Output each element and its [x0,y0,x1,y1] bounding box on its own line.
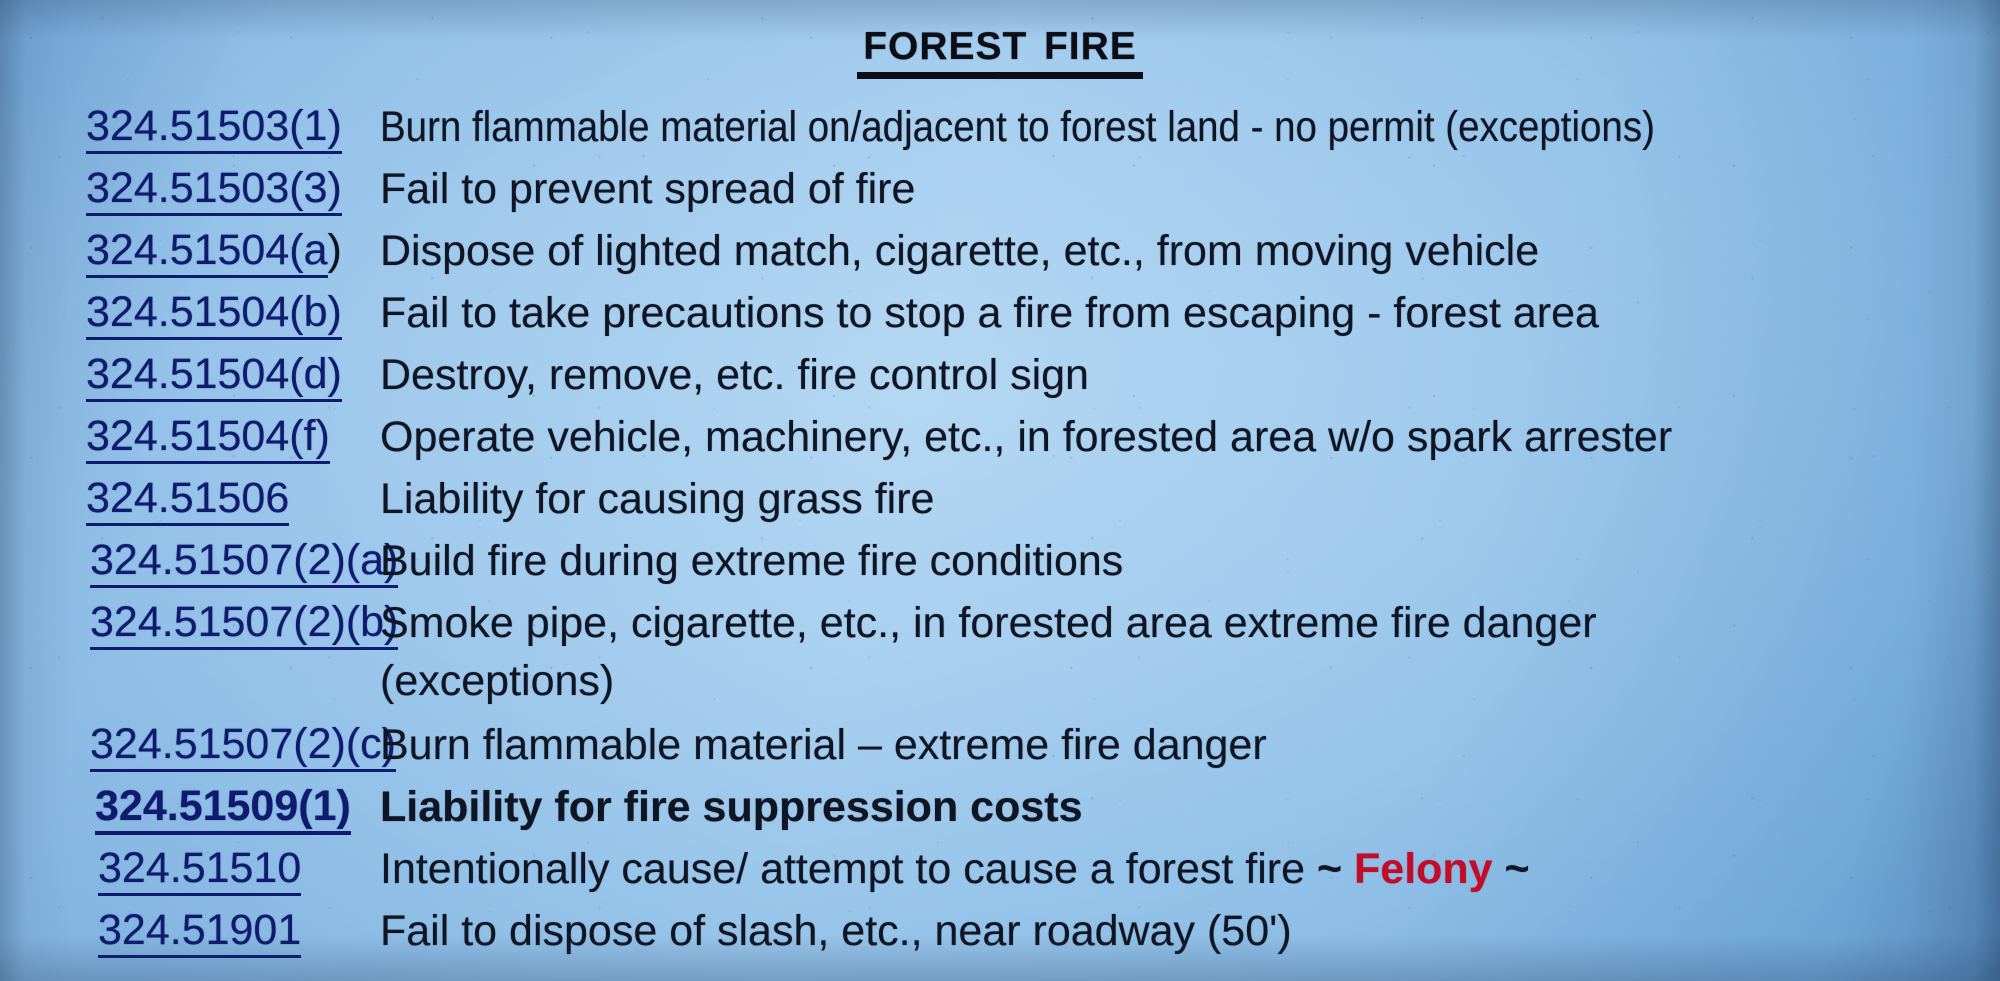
page-title: Forest Fire [857,12,1143,79]
statute-description: Build fire during extreme fire condition… [380,532,2000,590]
statute-number: 324.51504(f) [0,408,380,464]
statute-description: Liability for causing grass fire [380,470,2000,528]
table-row: 324.51503(3) Fail to prevent spread of f… [0,160,2000,222]
statute-number-text: 324.51503(3) [86,164,342,216]
table-row: 324.51507(2)(b) Smoke pipe, cigarette, e… [0,594,2000,716]
statute-number: 324.51901 [0,902,380,958]
statute-number-text: 324.51509(1) [95,782,351,835]
forest-fire-sign: Forest Fire 324.51503(1) Burn flammable … [0,0,2000,981]
table-row: 324.51504(f) Operate vehicle, machinery,… [0,408,2000,470]
statute-number: 324.51503(3) [0,160,380,216]
statute-number: 324.51507(2)(a) [0,532,380,588]
statute-description: Smoke pipe, cigarette, etc., in forested… [380,594,2000,710]
statute-description: Burn flammable material – extreme fire d… [380,716,2000,774]
statute-number-text: 324.51507(2)(a) [90,536,398,588]
statute-number: 324.51506 [0,470,380,526]
statute-description-text: Intentionally cause/ attempt to cause a … [380,845,1317,893]
felony-badge: Felony [1354,845,1493,893]
table-row: 324.51507(2)(c) Burn flammable material … [0,716,2000,778]
statute-description: Fail to dispose of slash, etc., near roa… [380,902,2000,960]
statute-description: Dispose of lighted match, cigarette, etc… [380,222,2000,280]
statute-number: 324.51510 [0,840,380,896]
statute-number-text: 324.51504(d) [86,350,342,402]
statute-number-text: 324.51504(f) [86,412,330,464]
statute-description: Liability for fire suppression costs [380,778,2000,836]
table-row: 324.51506 Liability for causing grass fi… [0,470,2000,532]
statute-description: Operate vehicle, machinery, etc., in for… [380,408,2000,466]
statute-number-text: 324.51507(2)(c) [90,720,396,772]
statute-number-text: 324.51901 [98,906,301,958]
page-title-container: Forest Fire [0,12,2000,79]
statute-description: Destroy, remove, etc. fire control sign [380,346,2000,404]
statute-number: 324.51509(1) [0,778,380,834]
statute-number-text: 324.51507(2)(b) [90,598,398,650]
table-row: 324.51901 Fail to dispose of slash, etc.… [0,902,2000,964]
statute-description: Fail to take precautions to stop a fire … [380,284,2000,342]
table-row: 324.51507(2)(a) Build fire during extrem… [0,532,2000,594]
table-row: 324.51504(a) Dispose of lighted match, c… [0,222,2000,284]
statute-number-text: 324.51504(b) [86,288,342,340]
statute-number: 324.51507(2)(c) [0,716,380,772]
statute-number: 324.51507(2)(b) [0,594,380,650]
statute-number: 324.51504(d) [0,346,380,402]
table-row: 324.51504(b) Fail to take precautions to… [0,284,2000,346]
statute-number-text: 324.51510 [98,844,301,896]
statute-description: Burn flammable material on/adjacent to f… [380,98,1982,156]
table-row: 324.51509(1) Liability for fire suppress… [0,778,2000,840]
statute-number-tail: ) [328,226,342,274]
table-row: 324.51503(1) Burn flammable material on/… [0,98,2000,160]
statute-number-text: 324.51506 [86,474,289,526]
statute-number: 324.51504(a) [0,222,380,278]
table-row: 324.51504(d) Destroy, remove, etc. fire … [0,346,2000,408]
table-row: 324.51510 Intentionally cause/ attempt t… [0,840,2000,902]
statute-number: 324.51503(1) [0,98,380,154]
statute-number-text: 324.51504(a [86,226,328,278]
statute-number: 324.51504(b) [0,284,380,340]
statute-description: Fail to prevent spread of fire [380,160,2000,218]
statute-table: 324.51503(1) Burn flammable material on/… [0,98,2000,964]
tilde-left: ~ [1317,845,1354,893]
tilde-right: ~ [1493,845,1530,893]
statute-number-text: 324.51503(1) [86,102,342,154]
statute-description: Intentionally cause/ attempt to cause a … [380,840,2000,898]
